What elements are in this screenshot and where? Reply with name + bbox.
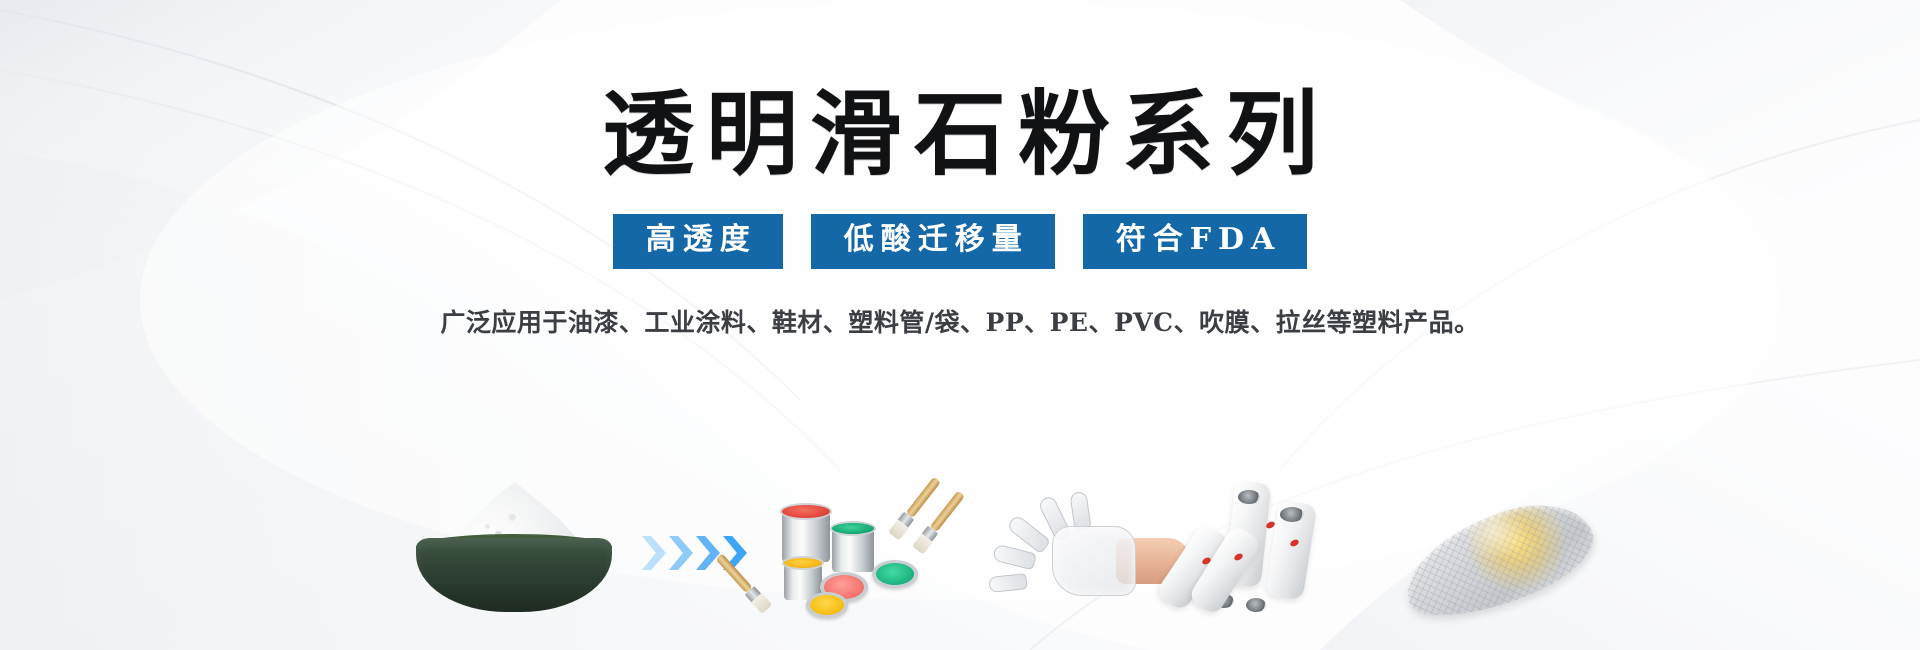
finger-thumb (1069, 491, 1091, 531)
banner-content: 透明滑石粉系列 高透度 低酸迁移量 符合FDA 广泛应用于油漆、工业涂料、鞋材、… (0, 0, 1920, 339)
page-title: 透明滑石粉系列 (0, 88, 1920, 180)
film-roll-core-back-right (1280, 507, 1304, 522)
plastic-film-rolls-image (1168, 478, 1398, 618)
chevron-right-icon-3 (696, 536, 720, 570)
paint-surface-red (780, 503, 832, 520)
film-roll-core-front-right (1246, 598, 1266, 612)
paint-lid-green-inner (876, 563, 914, 585)
feature-badge-low-acid-migration: 低酸迁移量 (811, 214, 1055, 269)
feature-badge-high-transparency: 高透度 (613, 214, 783, 269)
paint-surface-green (830, 521, 876, 536)
finger-little (988, 573, 1027, 593)
finger-ring (992, 544, 1037, 571)
chevron-right-icon-1 (642, 536, 666, 570)
green-bowl (416, 538, 612, 612)
paint-surface-yellow (782, 556, 824, 570)
talc-powder-bowl-image (404, 488, 624, 618)
product-image-strip (0, 428, 1920, 618)
film-roll-core-back-left (1238, 490, 1260, 504)
paint-cans-image (760, 478, 970, 618)
gloved-palm (1052, 526, 1136, 596)
product-banner: 透明滑石粉系列 高透度 低酸迁移量 符合FDA 广泛应用于油漆、工业涂料、鞋材、… (0, 0, 1920, 650)
feature-badge-fda-compliant: 符合FDA (1083, 214, 1308, 269)
shoe-sole-highlight (1464, 502, 1526, 562)
chevron-right-icon-2 (669, 536, 693, 570)
plastic-glove-hand-image (1000, 488, 1190, 618)
application-description: 广泛应用于油漆、工业涂料、鞋材、塑料管/袋、PP、PE、PVC、吹膜、拉丝等塑料… (0, 303, 1920, 339)
paint-lid-yellow-inner (810, 595, 844, 615)
shoe-sole-image (1400, 488, 1600, 618)
feature-badge-list: 高透度 低酸迁移量 符合FDA (0, 214, 1920, 269)
